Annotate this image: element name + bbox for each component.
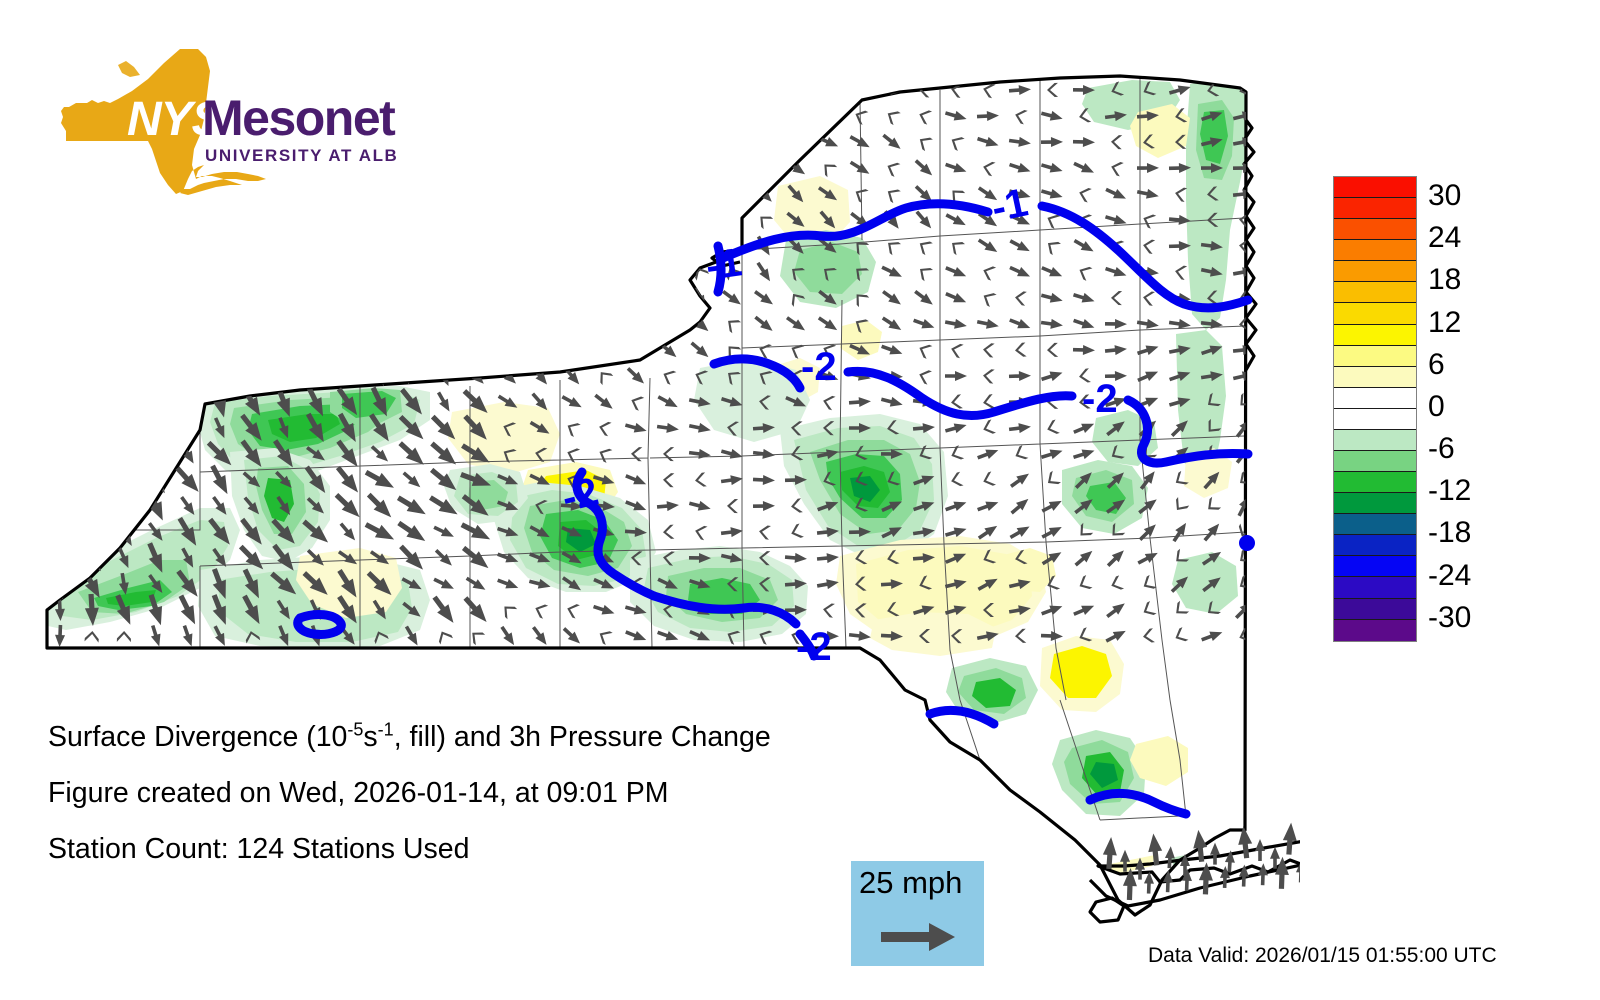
wind-barb <box>532 239 549 255</box>
wind-barb <box>179 212 197 229</box>
colorbar-band <box>1334 409 1416 430</box>
wind-barb <box>308 130 324 154</box>
wind-barb <box>592 602 616 618</box>
wind-barb <box>1009 371 1031 382</box>
title-mid: s <box>363 721 377 753</box>
wind-barb <box>628 81 645 99</box>
fill-patch <box>448 402 560 474</box>
wind-barb <box>721 183 744 205</box>
title-pre: Surface Divergence (10 <box>48 721 347 753</box>
wind-barb <box>1008 315 1032 332</box>
wind-barb <box>395 438 428 470</box>
wind-barb <box>404 317 421 332</box>
wind-barb <box>372 156 388 180</box>
wind-barb <box>1137 521 1160 544</box>
wind-barb <box>468 266 484 279</box>
wind-barb <box>310 209 322 232</box>
title-exponent-1: -5 <box>347 720 363 740</box>
wind-barb <box>1045 420 1060 437</box>
wind-barb <box>624 627 648 644</box>
wind-barb <box>181 312 195 336</box>
wind-barb <box>1008 136 1031 149</box>
wind-barb <box>660 81 677 99</box>
wind-barb <box>214 104 227 127</box>
wind-barb <box>880 288 904 309</box>
wind-barb <box>244 187 261 202</box>
wind-barb <box>565 286 580 310</box>
wind-barb <box>434 130 454 154</box>
wind-barb <box>340 266 355 279</box>
wind-barb <box>117 631 131 642</box>
wind-barb <box>146 208 166 232</box>
wind-barb <box>141 463 170 497</box>
wind-barb <box>1174 264 1187 280</box>
wind-barb <box>45 515 75 549</box>
wind-barb <box>756 159 773 177</box>
wind-barb <box>912 287 936 308</box>
wind-barb <box>405 215 420 227</box>
wind-barb <box>533 602 548 619</box>
wind-barb <box>277 286 290 309</box>
wind-barb <box>51 130 70 154</box>
wind-barb <box>468 135 484 149</box>
wind-barb <box>756 211 774 229</box>
wind-barb <box>1232 369 1256 384</box>
wind-barb <box>467 338 485 362</box>
wind-barb <box>530 78 550 102</box>
wind-barb <box>213 85 228 97</box>
wind-barb <box>790 498 803 513</box>
colorbar-band <box>1334 367 1416 388</box>
wind-barb <box>688 448 711 461</box>
wind-barb <box>688 80 712 100</box>
wind-barb <box>467 156 484 180</box>
wind-barb <box>849 396 872 408</box>
wind-barb <box>113 411 134 445</box>
wind-barb <box>627 130 646 154</box>
wind-barb <box>1172 627 1188 644</box>
wind-barb <box>150 105 161 127</box>
wind-barb <box>499 134 517 150</box>
wind-barb <box>1109 160 1123 177</box>
wind-barb <box>143 489 169 524</box>
wind-barb <box>1044 471 1061 489</box>
wind-barb <box>1014 342 1026 357</box>
wind-barb <box>246 286 259 309</box>
wind-barb <box>529 364 551 387</box>
wind-barb <box>976 317 1000 331</box>
wind-barb <box>532 108 549 124</box>
colorbar-band <box>1334 177 1416 198</box>
wind-barb <box>86 105 97 127</box>
wind-barb <box>1072 159 1096 177</box>
colorbar-band <box>1334 514 1416 535</box>
wind-barb <box>1104 599 1128 620</box>
wind-barb <box>663 447 674 461</box>
wind-barb <box>629 394 645 411</box>
wind-barb <box>531 342 549 359</box>
wind-barb <box>212 156 228 180</box>
wind-barb <box>340 291 356 305</box>
wind-barb <box>339 82 357 99</box>
colorbar-tick-label: 30 <box>1428 181 1461 211</box>
wind-barb <box>563 156 581 180</box>
wind-barb <box>83 316 100 332</box>
wind-barb <box>1008 263 1032 281</box>
wind-barb <box>1109 575 1124 592</box>
wind-barb <box>1072 290 1096 306</box>
wind-barb <box>1140 601 1156 619</box>
wind-barb <box>727 499 738 513</box>
wind-barb <box>913 208 935 231</box>
wind-barb <box>944 498 968 515</box>
wind-barb <box>784 314 808 335</box>
wind-barb <box>277 345 291 356</box>
wind-barb <box>247 157 258 179</box>
wind-barb <box>83 186 101 203</box>
wind-barb <box>848 158 872 178</box>
wind-barb <box>466 312 486 336</box>
wind-barb <box>562 104 581 128</box>
wind-barb <box>212 136 227 149</box>
wind-barb <box>1072 547 1095 569</box>
wind-barb <box>659 208 677 232</box>
wind-barb <box>372 136 388 149</box>
wind-barb <box>500 234 516 258</box>
wind-barb <box>816 314 840 334</box>
wind-barb <box>1013 445 1029 462</box>
wind-barb <box>981 160 995 176</box>
wind-barb <box>885 160 901 177</box>
wind-barb <box>1204 497 1221 515</box>
wind-barb <box>1040 186 1064 202</box>
wind-barb <box>278 183 289 205</box>
wind-barb <box>50 437 71 471</box>
colorbar-band <box>1334 219 1416 240</box>
wind-barb <box>532 162 548 175</box>
wind-barb <box>247 105 257 127</box>
wind-barb <box>50 234 70 258</box>
caption-block: Surface Divergence (10-5s-1, fill) and 3… <box>48 722 948 890</box>
wind-barb <box>46 541 74 576</box>
wind-barb <box>1040 446 1064 462</box>
wind-barb <box>146 182 167 206</box>
wind-barb <box>83 212 100 228</box>
title-exponent-2: -1 <box>378 720 394 740</box>
wind-barb <box>275 78 294 102</box>
wind-barb <box>688 339 711 361</box>
wind-barb <box>944 263 968 281</box>
wind-barb <box>663 473 675 488</box>
colorbar-tick-label: 0 <box>1428 392 1445 422</box>
wind-barb <box>470 286 483 309</box>
wind-barb <box>693 524 707 540</box>
wind-barb <box>784 158 808 179</box>
wind-barb <box>1047 83 1058 97</box>
colorbar-tick-label: 12 <box>1428 308 1461 338</box>
wind-barb <box>245 266 260 278</box>
contour-label: -2 <box>1082 377 1118 421</box>
wind-barb <box>502 286 515 309</box>
wind-barb <box>372 343 388 357</box>
wind-barb <box>1076 264 1092 281</box>
wind-barb <box>977 110 999 121</box>
wind-barb <box>785 552 808 564</box>
colorbar-band <box>1334 282 1416 303</box>
wind-barb <box>816 82 840 97</box>
wind-barb <box>976 522 1000 542</box>
wind-barb <box>114 260 133 284</box>
wind-barb <box>688 498 712 513</box>
wind-barb <box>981 471 996 488</box>
wind-barb <box>435 364 453 388</box>
wind-barb <box>55 105 66 127</box>
wind-barb <box>724 133 741 151</box>
wind-barb <box>564 419 580 437</box>
colorbar-band <box>1334 472 1416 493</box>
wind-barb <box>1072 419 1096 437</box>
wind-barb <box>1142 290 1155 306</box>
wind-barb <box>563 134 581 151</box>
wind-barb <box>658 156 678 180</box>
wind-barb <box>1104 185 1128 203</box>
wind-barb <box>86 391 97 413</box>
wind-barb <box>948 237 965 255</box>
wind-barb <box>724 315 741 333</box>
wind-barb <box>595 286 613 310</box>
wind-barb <box>688 105 711 127</box>
wind-barb <box>880 342 904 359</box>
wind-barb <box>1072 316 1096 333</box>
wind-barb <box>395 517 429 547</box>
wind-barb <box>1105 547 1128 569</box>
wind-barb <box>340 213 357 228</box>
wind-barb <box>595 342 613 359</box>
wind-barb <box>849 630 872 642</box>
wind-barb <box>109 463 139 497</box>
data-valid-timestamp: Data Valid: 2026/01/15 01:55:00 UTC <box>1148 944 1497 968</box>
wind-barb <box>308 240 323 252</box>
wind-barb <box>912 157 935 179</box>
wind-barb <box>371 312 389 336</box>
staten-island-outline <box>1090 898 1124 922</box>
wind-barb <box>1200 628 1224 645</box>
wind-barb <box>752 106 776 126</box>
wind-barb <box>81 515 103 550</box>
wind-barb <box>690 130 710 154</box>
wind-barb <box>212 369 229 384</box>
wind-barb <box>116 318 132 332</box>
wind-barb <box>310 287 322 310</box>
wind-barb <box>532 286 548 310</box>
wind-barb <box>1174 186 1187 202</box>
colorbar-band <box>1334 493 1416 514</box>
wind-barb <box>55 79 65 101</box>
wind-barb <box>51 156 69 180</box>
wind-barb <box>691 156 710 180</box>
colorbar-band <box>1334 346 1416 367</box>
wind-barb <box>182 391 194 414</box>
wind-barb <box>435 338 452 362</box>
wind-barb <box>181 371 195 382</box>
wind-barb <box>565 602 580 619</box>
wind-barb <box>183 79 194 101</box>
wind-barb <box>148 240 164 254</box>
wind-barb <box>848 132 872 151</box>
station-count-line: Station Count: 124 Stations Used <box>48 834 948 864</box>
wind-barb <box>499 108 517 125</box>
wind-barb <box>180 234 196 258</box>
contour-label: -2 <box>796 625 832 669</box>
wind-barb <box>433 547 456 569</box>
wind-barb <box>496 575 520 592</box>
wind-barb <box>180 266 196 279</box>
wind-barb <box>503 183 514 205</box>
colorbar-band <box>1334 303 1416 324</box>
wind-barb <box>821 394 835 410</box>
wind-barb <box>532 214 548 228</box>
colorbar-band <box>1334 599 1416 620</box>
wind-barb <box>1141 212 1156 229</box>
wind-barb <box>1008 495 1031 517</box>
wind-barb <box>948 133 964 151</box>
wind-barb <box>660 182 677 206</box>
wind-barb <box>1111 291 1122 305</box>
wind-barb <box>597 420 611 436</box>
wind-barb <box>1072 446 1096 462</box>
wind-barb <box>592 391 615 412</box>
wind-barb <box>916 133 933 151</box>
wind-barb <box>244 136 260 149</box>
wind-barb <box>1040 290 1064 305</box>
wind-barb <box>404 338 420 362</box>
wind-barb <box>595 108 613 125</box>
wind-barb <box>784 82 808 97</box>
wind-barb <box>753 474 775 485</box>
wind-barb <box>498 624 519 648</box>
wind-legend-label: 25 mph <box>859 865 962 901</box>
wind-barb <box>596 212 613 228</box>
wind-barb <box>789 523 804 540</box>
wind-barb <box>1044 237 1061 255</box>
wind-barb <box>624 420 648 435</box>
wind-barb <box>116 188 132 202</box>
wind-barb <box>626 260 647 284</box>
wind-barb <box>1041 631 1063 642</box>
wind-barb <box>1008 470 1032 491</box>
wind-barb <box>54 390 67 413</box>
wind-barb <box>976 236 1000 256</box>
wind-barb <box>343 235 354 257</box>
wind-barb <box>532 182 548 206</box>
wind-barb <box>50 489 70 523</box>
wind-barb <box>433 79 456 102</box>
wind-barb <box>1073 137 1095 148</box>
wind-barb <box>311 183 322 205</box>
wind-barb <box>950 394 963 409</box>
colorbar-tick-label: 24 <box>1428 223 1461 253</box>
wind-barb <box>880 314 904 334</box>
wind-barb <box>180 182 197 206</box>
wind-barb <box>980 289 996 307</box>
wind-barb <box>659 290 677 307</box>
wind-barb <box>340 312 356 336</box>
colorbar-band <box>1334 577 1416 598</box>
wind-barb <box>626 208 646 232</box>
wind-barb <box>363 466 398 494</box>
wind-barb <box>563 312 581 336</box>
wind-barb <box>1040 108 1064 123</box>
wind-barb <box>373 266 388 278</box>
wind-barb <box>1142 238 1155 254</box>
wind-barb <box>86 131 98 154</box>
wind-barb <box>308 162 324 176</box>
wind-barb <box>332 490 365 522</box>
wind-barb <box>435 628 452 644</box>
wind-barb <box>659 264 677 281</box>
wind-barb <box>500 342 517 358</box>
wind-barb <box>85 371 100 383</box>
wind-barb <box>784 106 808 126</box>
wind-barb <box>212 239 228 253</box>
wind-barb <box>1076 575 1092 592</box>
wind-barb <box>1040 318 1063 331</box>
wind-barb <box>404 109 420 123</box>
wind-barb <box>52 370 67 383</box>
wind-barb <box>1047 343 1058 357</box>
wind-barb <box>982 369 994 384</box>
wind-barb <box>468 188 484 201</box>
wind-barb <box>465 365 488 388</box>
wind-barb <box>720 526 743 539</box>
wind-barb <box>406 182 419 205</box>
wind-barb <box>917 368 932 385</box>
wind-barb <box>596 627 612 645</box>
wind-barb <box>84 286 100 310</box>
wind-barb <box>459 542 493 573</box>
wind-barb <box>562 182 582 206</box>
wind-barb <box>627 316 644 332</box>
wind-barb <box>880 131 903 153</box>
wind-barb <box>596 161 613 176</box>
wind-barb <box>373 214 388 226</box>
wind-barb <box>306 78 326 102</box>
wind-barb <box>434 390 454 414</box>
wind-barb <box>1014 290 1027 305</box>
wind-barb <box>501 215 516 227</box>
wind-barb <box>817 552 840 564</box>
wind-barb <box>54 338 66 361</box>
wind-barb <box>1111 135 1123 149</box>
wind-barb <box>436 317 453 332</box>
wind-barb <box>563 342 581 359</box>
wind-barb <box>720 79 744 100</box>
wind-barb <box>917 108 932 125</box>
wind-barb <box>531 316 549 332</box>
wind-barb <box>976 498 1000 515</box>
wind-barb <box>917 342 933 359</box>
wind-barb <box>1210 843 1220 865</box>
wind-barb <box>1258 863 1269 885</box>
wind-barb <box>628 291 645 307</box>
wind-barb <box>52 318 68 331</box>
wind-barb <box>339 338 357 362</box>
wind-barb <box>373 293 388 305</box>
wind-barb <box>87 339 97 361</box>
wind-barb <box>277 163 292 175</box>
wind-barb <box>659 108 677 126</box>
wind-barb <box>372 240 387 252</box>
